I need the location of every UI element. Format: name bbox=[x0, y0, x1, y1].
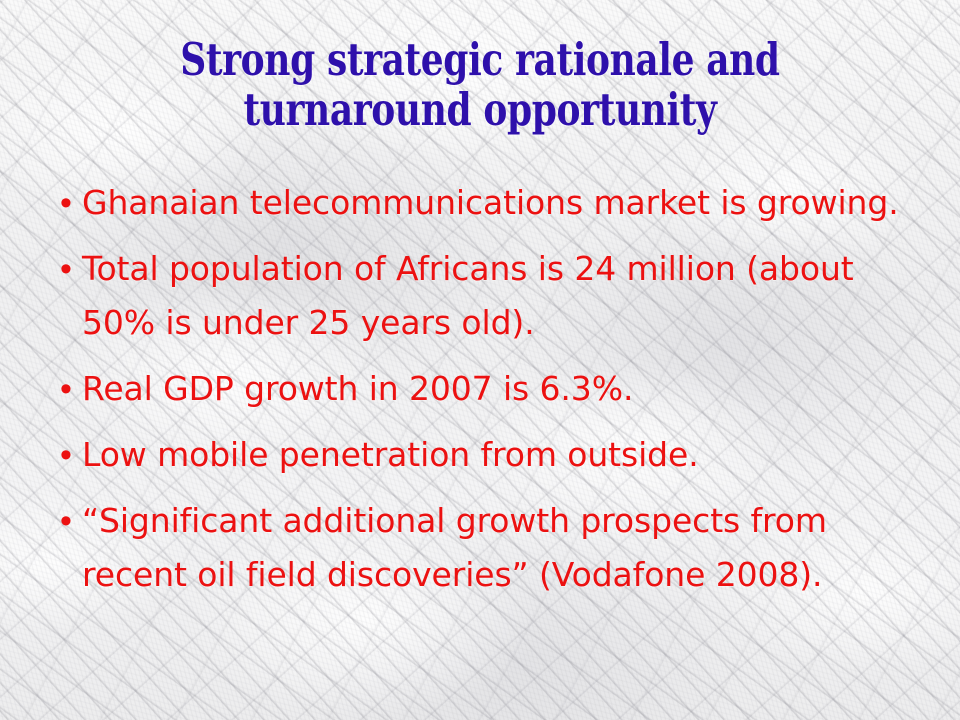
bullet-text: Total population of Africans is 24 milli… bbox=[82, 242, 912, 350]
list-item: • Real GDP growth in 2007 is 6.3%. bbox=[52, 362, 912, 416]
bullet-text: Low mobile penetration from outside. bbox=[82, 428, 912, 482]
bullet-dot-icon: • bbox=[52, 242, 82, 296]
bullet-dot-icon: • bbox=[52, 362, 82, 416]
list-item: • Total population of Africans is 24 mil… bbox=[52, 242, 912, 350]
bullet-text: Ghanaian telecommunications market is gr… bbox=[82, 176, 912, 230]
bullet-dot-icon: • bbox=[52, 494, 82, 548]
list-item: • “Significant additional growth prospec… bbox=[52, 494, 912, 602]
list-item: • Ghanaian telecommunications market is … bbox=[52, 176, 912, 230]
bullet-dot-icon: • bbox=[52, 428, 82, 482]
list-item: • Low mobile penetration from outside. bbox=[52, 428, 912, 482]
slide-content: Strong strategic rationale and turnaroun… bbox=[0, 0, 960, 720]
presentation-slide: Strong strategic rationale and turnaroun… bbox=[0, 0, 960, 720]
bullet-text: Real GDP growth in 2007 is 6.3%. bbox=[82, 362, 912, 416]
bullet-list: • Ghanaian telecommunications market is … bbox=[52, 176, 912, 614]
bullet-text: “Significant additional growth prospects… bbox=[82, 494, 912, 602]
slide-title: Strong strategic rationale and turnaroun… bbox=[128, 35, 832, 135]
bullet-dot-icon: • bbox=[52, 176, 82, 230]
